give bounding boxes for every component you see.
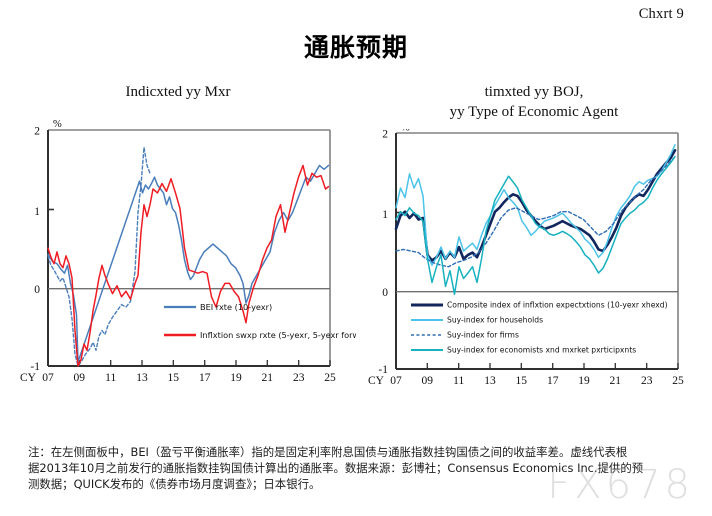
series-line (396, 150, 675, 260)
y-tick-1: 1 (34, 206, 40, 218)
x-tick-09: 09 (422, 375, 434, 387)
x-tick-15: 15 (168, 372, 180, 384)
footnote-line-3: 测数据；QUICK发布的《债券市场月度调查》；日本银行。 (28, 476, 628, 492)
panel-right-title-line2: yy Type of Economic Agent (382, 102, 686, 122)
y-tick-2: 2 (34, 126, 40, 138)
x-tick-17: 17 (199, 372, 211, 384)
chart-number: Chxrt 9 (639, 6, 684, 23)
legend-label-swap: Inflxtion swxp rxte (5-yexr, 5-yexr forw… (200, 330, 356, 340)
legend-label-composite: Composite index of inflxtion expectxtion… (447, 300, 668, 309)
x-tick-19: 19 (230, 372, 242, 384)
left-chart-svg: 2 1 0 -1 % CY (0, 108, 356, 398)
x-tick-19: 19 (578, 375, 590, 387)
x-tick-11: 11 (453, 375, 464, 387)
x-tick-07: 07 (42, 372, 54, 384)
series-line (396, 144, 675, 264)
x-axis-prefix: CY (20, 372, 37, 384)
right-chart-svg: 2 1 0 -1 % CY (356, 129, 712, 401)
legend-label-households: Suy-index for households (447, 315, 543, 324)
x-tick-25: 25 (324, 372, 336, 384)
panel-left-title: Indicxted yy Mxr (0, 82, 356, 102)
left-legend: BEI rxte (10-yexr) Inflxtion swxp rxte (… (164, 302, 356, 340)
page-title: 通胀预期 (0, 28, 712, 64)
x-tick-25: 25 (672, 375, 684, 387)
chart-panels: Indicxted yy Mxr 2 1 0 -1 % (0, 82, 712, 422)
right-legend: Composite index of inflxtion expectxtion… (411, 300, 668, 354)
x-tick-13: 13 (136, 372, 148, 384)
panel-right-title-line1: timxted yy BOJ, (485, 84, 584, 100)
y-unit-label: % (53, 119, 62, 130)
y-tick-1: 1 (382, 209, 388, 221)
x-tick-15: 15 (516, 375, 528, 387)
panel-right: timxted yy BOJ, yy Type of Economic Agen… (356, 82, 712, 422)
y-tick-2: 2 (382, 129, 388, 141)
x-tick-23: 23 (293, 372, 305, 384)
y-unit-label: % (401, 129, 410, 134)
x-tick-13: 13 (484, 375, 496, 387)
x-axis-prefix: CY (368, 375, 385, 387)
footnote-line-1: 注：在左侧面板中，BEI（盈亏平衡通胀率）指的是固定利率附息国债与通胀指数挂钩国… (28, 444, 628, 460)
x-tick-21: 21 (610, 375, 622, 387)
y-tick-0: 0 (34, 284, 40, 296)
panel-left: Indicxted yy Mxr 2 1 0 -1 % (0, 82, 356, 422)
legend-label-bei: BEI rxte (10-yexr) (200, 302, 272, 312)
x-tick-11: 11 (105, 372, 116, 384)
series-line (48, 148, 150, 367)
footnote: 注：在左侧面板中，BEI（盈亏平衡通胀率）指的是固定利率附息国债与通胀指数挂钩国… (28, 444, 628, 493)
panel-right-plot: 2 1 0 -1 % CY (356, 129, 712, 401)
x-tick-21: 21 (262, 372, 274, 384)
panel-left-plot: 2 1 0 -1 % CY (0, 108, 356, 398)
x-tick-09: 09 (74, 372, 86, 384)
panel-left-title-line1: Indicxted yy Mxr (126, 84, 231, 100)
panel-right-title: timxted yy BOJ, yy Type of Economic Agen… (356, 82, 712, 123)
y-tick-0: 0 (382, 287, 388, 299)
series-line (396, 156, 675, 294)
footnote-line-2: 据2013年10月之前发行的通胀指数挂钩国债计算出的通胀率。数据来源：彭博社；C… (28, 460, 628, 476)
x-tick-17: 17 (547, 375, 559, 387)
x-tick-07: 07 (390, 375, 402, 387)
x-tick-23: 23 (641, 375, 653, 387)
right-data-series (396, 144, 675, 293)
legend-label-firms: Suy-index for firms (447, 330, 519, 339)
legend-label-economists: Suy-index for economists xnd mxrket pxrt… (447, 345, 636, 354)
